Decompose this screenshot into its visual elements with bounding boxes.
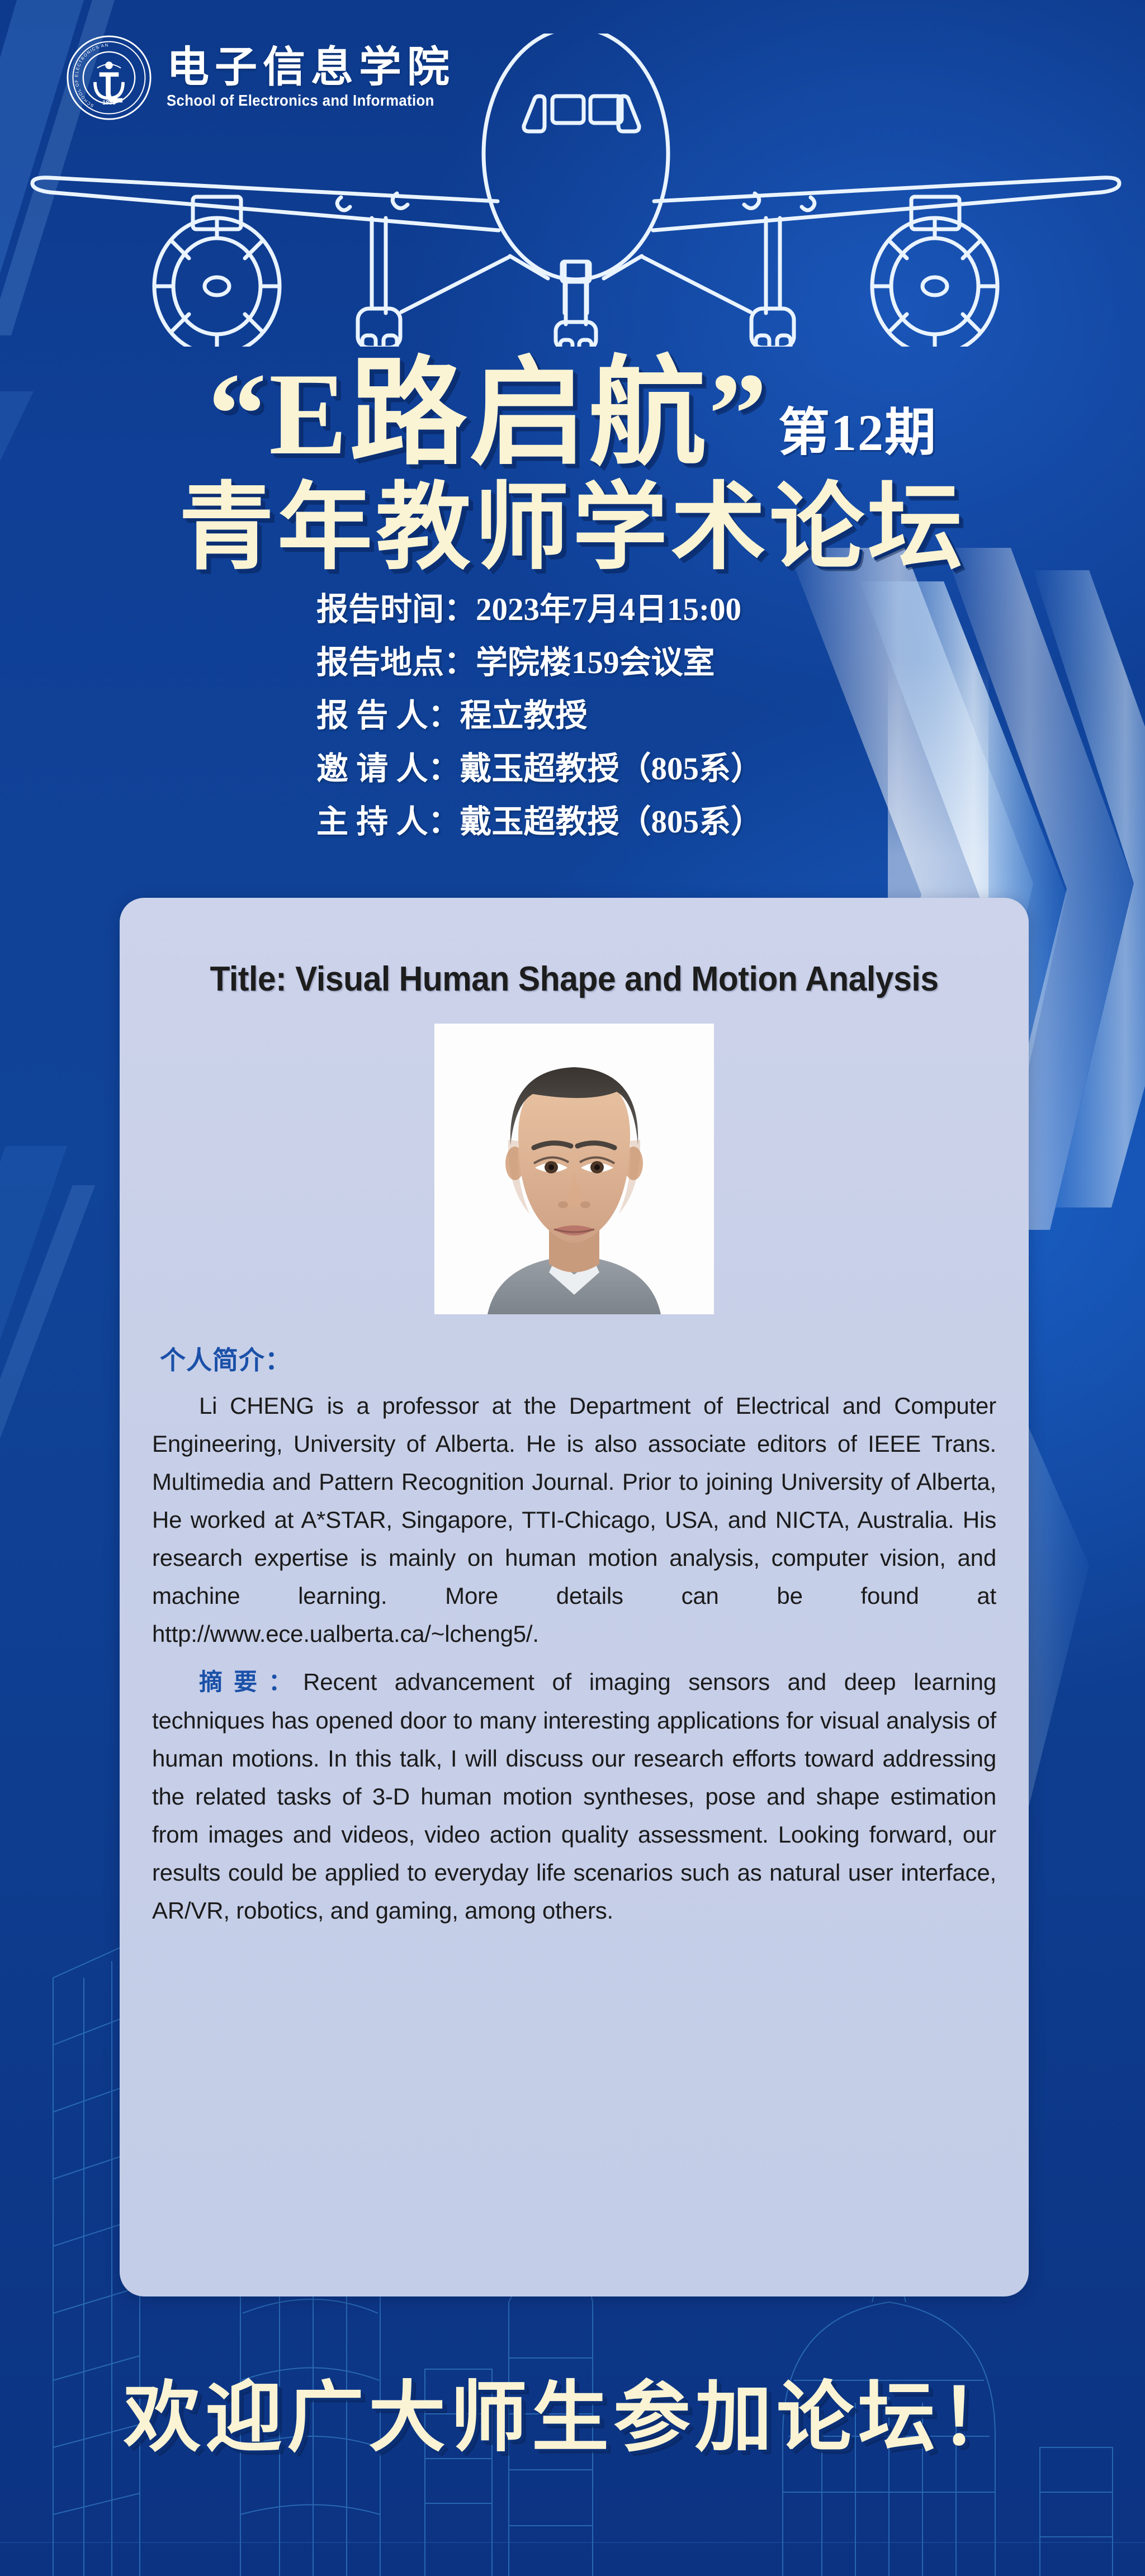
speaker-portrait xyxy=(434,1024,714,1314)
issue-number-badge: 第12期 xyxy=(778,407,937,458)
forum-series-title: “E路启航” xyxy=(208,356,769,473)
seal-year-label: 1958 xyxy=(102,100,116,106)
portrait-photo-icon xyxy=(434,1024,714,1314)
forum-subtitle: 青年教师学术论坛 xyxy=(179,476,966,581)
info-value-speaker: 程立教授 xyxy=(460,700,588,732)
school-logo-block: 1958 SCHOOL OF ELECTRONICS AND INFORMATI… xyxy=(66,35,457,121)
school-name-cn: 电子信息学院 xyxy=(167,46,457,91)
info-row-location: 报告地点： 学院楼159会议室 xyxy=(316,647,763,679)
info-row-time: 报告时间： 2023年7月4日15:00 xyxy=(316,594,763,626)
talk-title: Title: Visual Human Shape and Motion Ana… xyxy=(173,959,976,999)
info-label-host: 主 持 人： xyxy=(316,806,460,838)
info-value-location: 学院楼159会议室 xyxy=(476,647,715,679)
call-to-action-text: 欢迎广大师生参加论坛！ xyxy=(124,2375,1021,2461)
abstract-body: Recent advancement of imaging sensors an… xyxy=(152,1669,996,1924)
school-name-en: School of Electronics and Information xyxy=(167,92,434,110)
info-row-host: 主 持 人： 戴玉超教授（805系） xyxy=(316,806,763,838)
headline-line-2: 青年教师学术论坛 xyxy=(0,481,1145,576)
university-seal-icon: 1958 SCHOOL OF ELECTRONICS AND INFORMATI… xyxy=(66,35,152,121)
headline-block: “E路启航” 第12期 青年教师学术论坛 xyxy=(0,333,1145,576)
headline-line-1: “E路启航” 第12期 xyxy=(0,333,1145,473)
info-row-speaker: 报 告 人： 程立教授 xyxy=(316,700,763,732)
call-to-action-banner: 欢迎广大师生参加论坛！ xyxy=(0,2355,1145,2466)
info-value-host: 戴玉超教授（805系） xyxy=(460,806,763,838)
info-label-speaker: 报 告 人： xyxy=(316,700,460,732)
info-row-inviter: 邀 请 人： 戴玉超教授（805系） xyxy=(316,753,763,785)
abstract-paragraph: 摘要：Recent advancement of imaging sensors… xyxy=(152,1663,996,1930)
bio-heading: 个人简介： xyxy=(160,1340,996,1377)
info-label-location: 报告地点： xyxy=(316,647,476,679)
info-value-time: 2023年7月4日15:00 xyxy=(476,594,741,626)
poster-root: 1958 SCHOOL OF ELECTRONICS AND INFORMATI… xyxy=(0,0,1145,2576)
info-value-inviter: 戴玉超教授（805系） xyxy=(460,753,763,785)
bio-paragraph: Li CHENG is a professor at the Departmen… xyxy=(152,1387,996,1653)
abstract-label: 摘要： xyxy=(199,1670,303,1696)
info-label-time: 报告时间： xyxy=(316,594,476,626)
info-label-inviter: 邀 请 人： xyxy=(316,753,460,785)
event-info-list: 报告时间： 2023年7月4日15:00 报告地点： 学院楼159会议室 报 告… xyxy=(316,594,763,838)
content-card: Title: Visual Human Shape and Motion Ana… xyxy=(120,898,1029,2296)
